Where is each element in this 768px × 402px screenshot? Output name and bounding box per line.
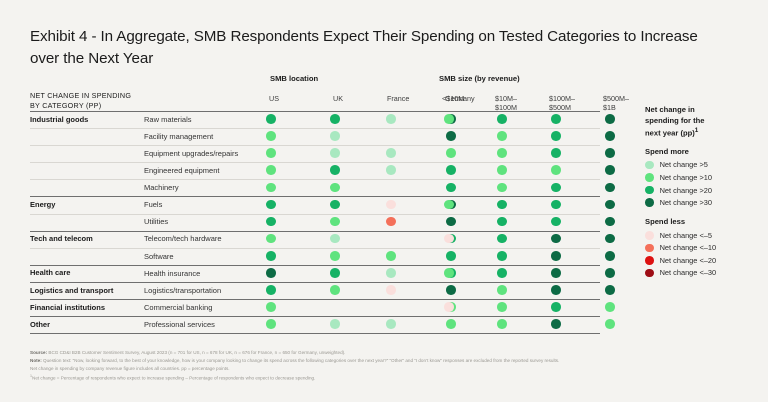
- column-header-500m-1b: $500M– $1B: [603, 94, 629, 112]
- heatmap-cell-dot: [330, 217, 340, 227]
- legend-spend-less-item[interactable]: Net change <–5: [645, 229, 765, 242]
- table-row: OtherProfessional services: [30, 316, 630, 333]
- footnote-source: Source: BCG CD&I B2B Customer Sentiment …: [30, 349, 745, 357]
- subcategory-label: Logistics/transportation: [144, 286, 221, 295]
- legend-spend-less-item[interactable]: Net change <–20: [645, 254, 765, 267]
- heatmap-cell-dot: [446, 183, 456, 193]
- legend-spend-less-item[interactable]: Net change <–30: [645, 267, 765, 280]
- heatmap-cell-dot: [386, 217, 396, 227]
- column-group-smb-location: SMB location: [270, 74, 318, 83]
- heatmap-cell-dot: [266, 217, 276, 227]
- heatmap-cell-dot: [551, 251, 561, 261]
- column-header-10m-100m: $10M– $100M: [495, 94, 517, 112]
- heatmap-cell-dot: [330, 165, 340, 175]
- heatmap-cell-dot: [551, 302, 561, 312]
- column-header-100m-500m: $100M– $500M: [549, 94, 575, 112]
- heatmap-cell-dot: [446, 148, 456, 158]
- heatmap-cell-dot: [444, 234, 454, 244]
- heatmap-cell-dot: [551, 217, 561, 227]
- heatmap-cell-dot: [497, 114, 507, 124]
- heatmap-cell-dot: [497, 285, 507, 295]
- heatmap-cell-dot: [444, 268, 454, 278]
- heatmap-cell-dot: [605, 200, 615, 210]
- column-group-smb-size: SMB size (by revenue): [439, 74, 520, 83]
- page-title: Exhibit 4 - In Aggregate, SMB Respondent…: [30, 26, 730, 69]
- heatmap-cell-dot: [497, 200, 507, 210]
- row-divider: [30, 196, 600, 197]
- heatmap-cell-dot: [266, 200, 276, 210]
- category-label: Health care: [30, 268, 70, 277]
- heatmap-cell-dot: [551, 148, 561, 158]
- legend-spend-more-label: Spend more: [645, 147, 765, 156]
- heatmap-cell-dot: [497, 319, 507, 329]
- heatmap-cell-dot: [605, 183, 615, 193]
- subcategory-label: Facility management: [144, 132, 213, 141]
- table-row: Engineered equipment: [30, 162, 630, 179]
- subcategory-label: Equipment upgrades/repairs: [144, 149, 238, 158]
- table-row: Utilities: [30, 214, 630, 231]
- row-divider: [30, 248, 600, 249]
- heatmap-cell-dot: [551, 268, 561, 278]
- legend-swatch-icon: [645, 173, 654, 182]
- subcategory-label: Professional services: [144, 320, 215, 329]
- heatmap-cell-dot: [497, 251, 507, 261]
- row-divider: [30, 128, 600, 129]
- heatmap-cell-dot: [330, 148, 340, 158]
- legend-item-label: Net change >10: [660, 173, 712, 182]
- heatmap-cell-dot: [497, 183, 507, 193]
- heatmap-cell-dot: [605, 251, 615, 261]
- heatmap-cell-dot: [386, 268, 396, 278]
- heatmap-cell-dot: [446, 131, 456, 141]
- heatmap-cell-dot: [266, 183, 276, 193]
- heatmap-cell-dot: [497, 131, 507, 141]
- category-label: Tech and telecom: [30, 234, 93, 243]
- subcategory-label: Fuels: [144, 200, 162, 209]
- legend-item-label: Net change <–20: [660, 256, 717, 265]
- column-header-10m: <$10M: [442, 94, 464, 103]
- heatmap-cell-dot: [551, 114, 561, 124]
- legend: Net change in spending for the next year…: [645, 104, 765, 279]
- table-row: Financial institutionsCommercial banking: [30, 299, 630, 316]
- legend-item-label: Net change <–5: [660, 231, 712, 240]
- column-header-france: France: [387, 94, 409, 103]
- footnote-line-3: Net change in spending by company revenu…: [30, 365, 745, 373]
- heatmap-cell-dot: [605, 217, 615, 227]
- heatmap-cell-dot: [497, 268, 507, 278]
- heatmap-chart: NET CHANGE IN SPENDING BY CATEGORY (PP) …: [30, 74, 738, 338]
- category-label: Logistics and transport: [30, 286, 113, 295]
- heatmap-cell-dot: [551, 165, 561, 175]
- table-row: Facility management: [30, 128, 630, 145]
- legend-title: Net change in spending for the next year…: [645, 104, 765, 139]
- heatmap-cell-dot: [330, 251, 340, 261]
- table-row: Equipment upgrades/repairs: [30, 145, 630, 162]
- legend-item-label: Net change <–10: [660, 243, 717, 252]
- heatmap-cell-dot: [605, 234, 615, 244]
- legend-spend-more-item[interactable]: Net change >30: [645, 196, 765, 209]
- heatmap-cell-dot: [386, 148, 396, 158]
- heatmap-cell-dot: [386, 200, 396, 210]
- heatmap-cell-dot: [446, 285, 456, 295]
- heatmap-cell-dot: [605, 319, 615, 329]
- heatmap-cell-dot: [330, 319, 340, 329]
- table-row: Tech and telecomTelecom/tech hardware: [30, 231, 630, 248]
- heatmap-cell-dot: [330, 200, 340, 210]
- heatmap-cell-dot: [497, 234, 507, 244]
- row-divider: [30, 316, 600, 317]
- legend-title-footnote-marker: 1: [695, 127, 699, 134]
- category-label: Industrial goods: [30, 115, 88, 124]
- heatmap-cell-dot: [605, 148, 615, 158]
- heatmap-cell-dot: [446, 165, 456, 175]
- category-label: Other: [30, 320, 50, 329]
- legend-item-label: Net change >30: [660, 198, 712, 207]
- heatmap-cell-dot: [446, 217, 456, 227]
- heatmap-cell-dot: [497, 165, 507, 175]
- subcategory-label: Raw materials: [144, 115, 192, 124]
- subcategory-label: Commercial banking: [144, 303, 212, 312]
- footnote-line-4: 1Net change = Percentage of respondents …: [30, 373, 745, 382]
- legend-spend-more-item[interactable]: Net change >10: [645, 171, 765, 184]
- row-divider: [30, 145, 600, 146]
- heatmap-cell-dot: [497, 148, 507, 158]
- heatmap-cell-dot: [444, 200, 454, 210]
- heatmap-cell-dot: [444, 114, 454, 124]
- heatmap-cell-dot: [444, 302, 454, 312]
- heatmap-cell-dot: [386, 285, 396, 295]
- heatmap-cell-dot: [605, 268, 615, 278]
- subcategory-label: Health insurance: [144, 269, 200, 278]
- row-divider: [30, 265, 600, 266]
- table-row: EnergyFuels: [30, 196, 630, 213]
- heatmap-cell-dot: [551, 183, 561, 193]
- heatmap-cell-dot: [446, 319, 456, 329]
- row-divider: [30, 214, 600, 215]
- heatmap-cell-dot: [266, 319, 276, 329]
- heatmap-cell-dot: [266, 165, 276, 175]
- row-divider: [30, 299, 600, 300]
- heatmap-cell-dot: [386, 319, 396, 329]
- heatmap-cell-dot: [266, 285, 276, 295]
- heatmap-cell-dot: [497, 217, 507, 227]
- legend-item-label: Net change >20: [660, 186, 712, 195]
- column-header-us: US: [269, 94, 279, 103]
- heatmap-cell-dot: [330, 268, 340, 278]
- category-label: Energy: [30, 200, 55, 209]
- legend-spend-more-item[interactable]: Net change >5: [645, 159, 765, 172]
- heatmap-cell-dot: [551, 200, 561, 210]
- table-row: Machinery: [30, 179, 630, 196]
- column-header-uk: UK: [333, 94, 343, 103]
- heatmap-cell-dot: [605, 114, 615, 124]
- table-row: Software: [30, 248, 630, 265]
- legend-swatch-icon: [645, 244, 654, 253]
- heatmap-cell-dot: [497, 302, 507, 312]
- heatmap-cell-dot: [551, 285, 561, 295]
- table-row: Health careHealth insurance: [30, 265, 630, 282]
- row-divider: [30, 231, 600, 232]
- legend-swatch-icon: [645, 186, 654, 195]
- row-divider: [30, 282, 600, 283]
- legend-spend-less-items: Net change <–5Net change <–10Net change …: [645, 229, 765, 279]
- heatmap-cell-dot: [386, 114, 396, 124]
- heatmap-cell-dot: [605, 285, 615, 295]
- heatmap-cell-dot: [266, 148, 276, 158]
- heatmap-cell-dot: [551, 319, 561, 329]
- heatmap-cell-dot: [605, 165, 615, 175]
- heatmap-cell-dot: [266, 131, 276, 141]
- heatmap-cell-dot: [266, 268, 276, 278]
- row-divider: [30, 111, 600, 112]
- heatmap-cell-dot: [551, 131, 561, 141]
- footnote-note: Note: Question text: “Now, looking forwa…: [30, 357, 745, 365]
- heatmap-grid: Industrial goodsRaw materialsFacility ma…: [30, 111, 630, 334]
- heatmap-cell-dot: [446, 251, 456, 261]
- footnotes: Source: BCG CD&I B2B Customer Sentiment …: [30, 349, 745, 382]
- legend-swatch-icon: [645, 198, 654, 207]
- exhibit-page: Exhibit 4 - In Aggregate, SMB Respondent…: [0, 0, 768, 402]
- heatmap-cell-dot: [330, 183, 340, 193]
- subcategory-label: Engineered equipment: [144, 166, 219, 175]
- legend-spend-less-label: Spend less: [645, 217, 765, 226]
- legend-item-label: Net change <–30: [660, 268, 717, 277]
- heatmap-cell-dot: [266, 114, 276, 124]
- table-row: Industrial goodsRaw materials: [30, 111, 630, 128]
- legend-swatch-icon: [645, 161, 654, 170]
- legend-spend-less-item[interactable]: Net change <–10: [645, 242, 765, 255]
- heatmap-cell-dot: [386, 165, 396, 175]
- legend-swatch-icon: [645, 256, 654, 265]
- legend-item-label: Net change >5: [660, 160, 708, 169]
- category-label: Financial institutions: [30, 303, 105, 312]
- heatmap-cell-dot: [330, 114, 340, 124]
- heatmap-cell-dot: [605, 302, 615, 312]
- table-row: Logistics and transportLogistics/transpo…: [30, 282, 630, 299]
- heatmap-cell-dot: [330, 131, 340, 141]
- heatmap-cell-dot: [386, 251, 396, 261]
- legend-swatch-icon: [645, 231, 654, 240]
- row-divider: [30, 162, 600, 163]
- subcategory-label: Telecom/tech hardware: [144, 234, 222, 243]
- row-divider: [30, 179, 600, 180]
- heatmap-cell-dot: [551, 234, 561, 244]
- heatmap-cell-dot: [266, 251, 276, 261]
- heatmap-cell-dot: [330, 285, 340, 295]
- subcategory-label: Software: [144, 252, 174, 261]
- axis-corner-label: NET CHANGE IN SPENDING BY CATEGORY (PP): [30, 91, 131, 112]
- table-bottom-divider: [30, 333, 600, 334]
- legend-spend-more-items: Net change >5Net change >10Net change >2…: [645, 159, 765, 209]
- subcategory-label: Utilities: [144, 217, 168, 226]
- legend-spend-more-item[interactable]: Net change >20: [645, 184, 765, 197]
- heatmap-cell-dot: [605, 131, 615, 141]
- heatmap-cell-dot: [266, 302, 276, 312]
- legend-swatch-icon: [645, 269, 654, 278]
- heatmap-cell-dot: [266, 234, 276, 244]
- subcategory-label: Machinery: [144, 183, 179, 192]
- heatmap-cell-dot: [330, 234, 340, 244]
